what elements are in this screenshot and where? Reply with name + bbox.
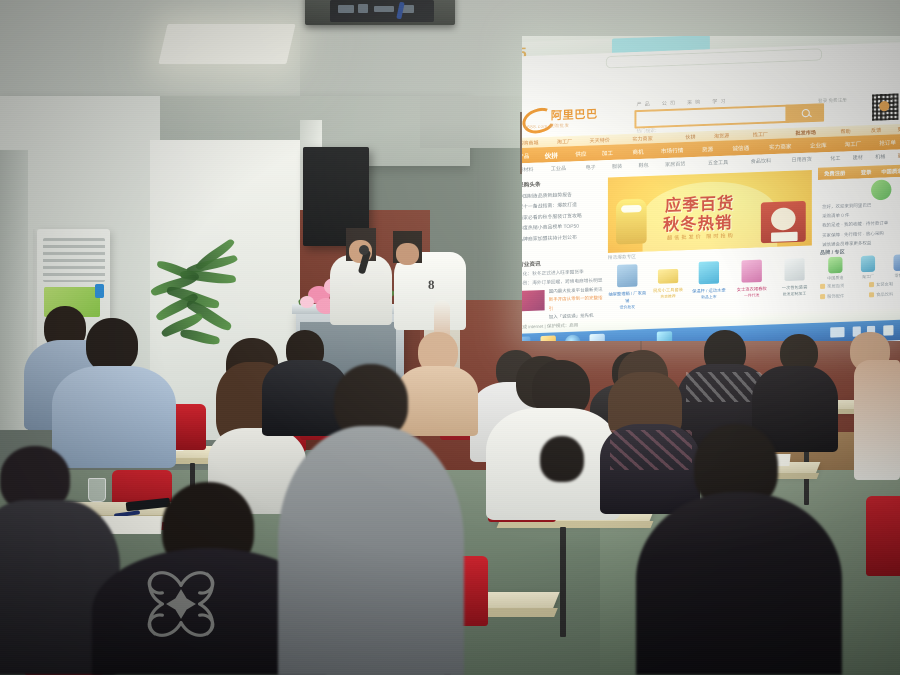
product-card[interactable]: 厨房小工具套装 热卖推荐	[649, 262, 688, 301]
brands-title: 品牌 / 专区	[820, 248, 845, 256]
projector-icon	[330, 0, 434, 22]
brand-icon	[861, 255, 875, 272]
clock-icon[interactable]	[883, 325, 893, 336]
hero-caption: 精选爆款专区	[608, 254, 636, 261]
promo-line: 新手开店从零到一的完整指引	[549, 295, 603, 311]
product-sub: 一件代发	[732, 292, 771, 300]
water-cup	[88, 478, 106, 502]
product-row: 抽屉整理箱 / 厂家直销 低价批发 厨房小工具套装 热卖推荐 保温杯 / 运动水…	[608, 257, 818, 312]
category-tag-label: 食品饮料	[876, 291, 893, 297]
header-links[interactable]: 登录 免费注册	[818, 97, 847, 104]
news-item[interactable]: 品牌商家加盟扶持计划公布	[522, 232, 604, 242]
category-tag[interactable]: 女装女鞋	[869, 281, 893, 288]
product-card[interactable]: 女士连衣裙春款 一件代发	[732, 259, 771, 300]
projection-screen: 5 阿里巴巴 1688.com 采购批发 产品 公司 采购 学习 热门搜索： 登…	[522, 36, 900, 341]
microphone-head-icon	[359, 245, 369, 255]
audience-body	[636, 492, 842, 675]
category-tag-label: 女装女鞋	[876, 281, 893, 287]
product-label: 抽屉整理箱 / 厂家直销	[608, 289, 647, 305]
search-icon	[802, 109, 810, 117]
category-tag[interactable]: 食品饮料	[869, 291, 893, 298]
news-item[interactable]: 商家必看的秋冬服装订货攻略	[522, 211, 604, 221]
promo-thumbnail[interactable]	[522, 290, 545, 311]
news-panel-title: 采购头条	[522, 178, 604, 189]
audience-body	[396, 366, 478, 436]
audience-shirt-pattern	[610, 430, 692, 470]
product-card[interactable]: 抽屉整理箱 / 厂家直销 低价批发	[608, 264, 647, 312]
start-button-icon[interactable]	[522, 336, 530, 341]
brand-icon-label: 零售通	[885, 272, 900, 279]
audience-head	[540, 436, 584, 482]
news-item[interactable]: 年度热销小商品榜单 TOP50	[522, 222, 604, 232]
industry-item[interactable]: 日化：秋冬正式进入旺季囤货季	[522, 268, 604, 277]
tshirt-floral-motif	[118, 548, 244, 660]
category-tag[interactable]: 服饰配件	[820, 293, 844, 300]
audience-head	[86, 318, 138, 372]
account-link[interactable]: 买家保障 · 先行赔付 · 放心采购	[822, 230, 893, 239]
conference-room-photo: 5 阿里巴巴 1688.com 采购批发 产品 公司 采购 学习 热门搜索： 登…	[0, 0, 900, 675]
account-link[interactable]: 采购清单 0 件	[822, 211, 893, 220]
file-explorer-icon[interactable]	[541, 335, 556, 341]
brand-icon-card[interactable]: 中国质造	[820, 256, 851, 282]
product-sub: 批发定制加工	[775, 290, 814, 298]
product-image	[699, 261, 719, 284]
brand-name: 阿里巴巴	[551, 105, 598, 123]
hero-banner[interactable]: 应季百货 秋冬热销 超低批发价 限时抢购	[608, 170, 812, 253]
product-image	[617, 264, 637, 287]
account-tab[interactable]: 中国质造区	[881, 168, 900, 176]
chair	[866, 496, 900, 576]
audience-body-right-edge	[854, 360, 900, 480]
media-player-icon[interactable]	[657, 331, 672, 341]
brand-icon-row: 中国质造 淘工厂 零售通	[820, 254, 900, 284]
account-links: 您好，欢迎来到阿里巴巴 采购清单 0 件 我的足迹 · 我的收藏 · 待付款订单…	[822, 202, 893, 251]
presenter-2-face	[396, 243, 419, 265]
category-tag-label: 服饰配件	[827, 293, 844, 299]
news-item[interactable]: 中国制造品质新趋势报告	[522, 190, 604, 200]
brand-icon-card[interactable]: 零售通	[885, 254, 900, 280]
account-link[interactable]: 我的足迹 · 我的收藏 · 待付款订单	[822, 220, 893, 229]
product-card[interactable]: 保温杯 / 运动水壶 新品上市	[689, 261, 728, 302]
brand-icon-label: 淘工厂	[853, 273, 884, 280]
category-tag-label: 家居百货	[827, 283, 844, 289]
news-item[interactable]: 双十一备战指南：爆款打造	[522, 200, 604, 210]
folder-icon[interactable]	[590, 334, 605, 341]
audience-body	[278, 426, 464, 675]
brand-icon-label: 中国质造	[820, 275, 851, 282]
audience-body	[52, 366, 176, 468]
account-tab[interactable]: 免费注册	[824, 170, 845, 178]
ac-badge-icon	[95, 284, 104, 298]
account-tab[interactable]: 登录	[861, 169, 872, 177]
industry-panel: 行业资讯 日化：秋冬正式进入旺季囤货季 外贸：海外订单回暖，跨境电商增长明显	[522, 257, 604, 290]
product-image	[784, 258, 804, 281]
product-card[interactable]: 一次性包装袋 批发定制加工	[775, 258, 814, 299]
brand-icon	[893, 254, 900, 271]
ac-grille-icon	[43, 238, 105, 282]
product-image	[658, 269, 678, 284]
hero-chip-decoration	[771, 232, 798, 242]
product-sub: 低价批发	[608, 304, 647, 312]
presenter-2-jersey-number: 8	[428, 278, 438, 292]
product-sub: 热卖推荐	[649, 293, 688, 301]
promo-text[interactable]: 国内最大批发平台最新资讯 新手开店从零到一的完整指引 加入「诚信通」抢先机	[549, 286, 604, 322]
brand-icon-card[interactable]: 淘工厂	[853, 255, 884, 281]
ceiling-panel-light-icon	[158, 24, 295, 64]
brand-icon	[828, 257, 842, 274]
category-tag[interactable]: 家居百货	[820, 283, 844, 290]
industry-panel-title: 行业资讯	[522, 257, 604, 268]
statusbar-text: 完成 internet | 保护模式：启用	[522, 322, 578, 330]
desk-leg	[560, 527, 566, 637]
desk-edge	[497, 521, 654, 528]
account-link[interactable]: 您好，欢迎来到阿里巴巴	[822, 202, 893, 211]
promo-line: 国内最大批发平台最新资讯	[549, 287, 603, 294]
news-panel: 采购头条 中国制造品质新趋势报告 双十一备战指南：爆款打造 商家必看的秋冬服装订…	[522, 178, 604, 246]
input-method-icon[interactable]	[830, 327, 844, 338]
alibaba-logo[interactable]: 阿里巴巴 1688.com 采购批发	[522, 104, 610, 130]
product-sub: 新品上市	[689, 294, 728, 302]
product-image	[742, 260, 762, 283]
mascot-icon	[616, 199, 647, 245]
account-link[interactable]: 诚信通会员尊享更多权益	[822, 239, 893, 248]
